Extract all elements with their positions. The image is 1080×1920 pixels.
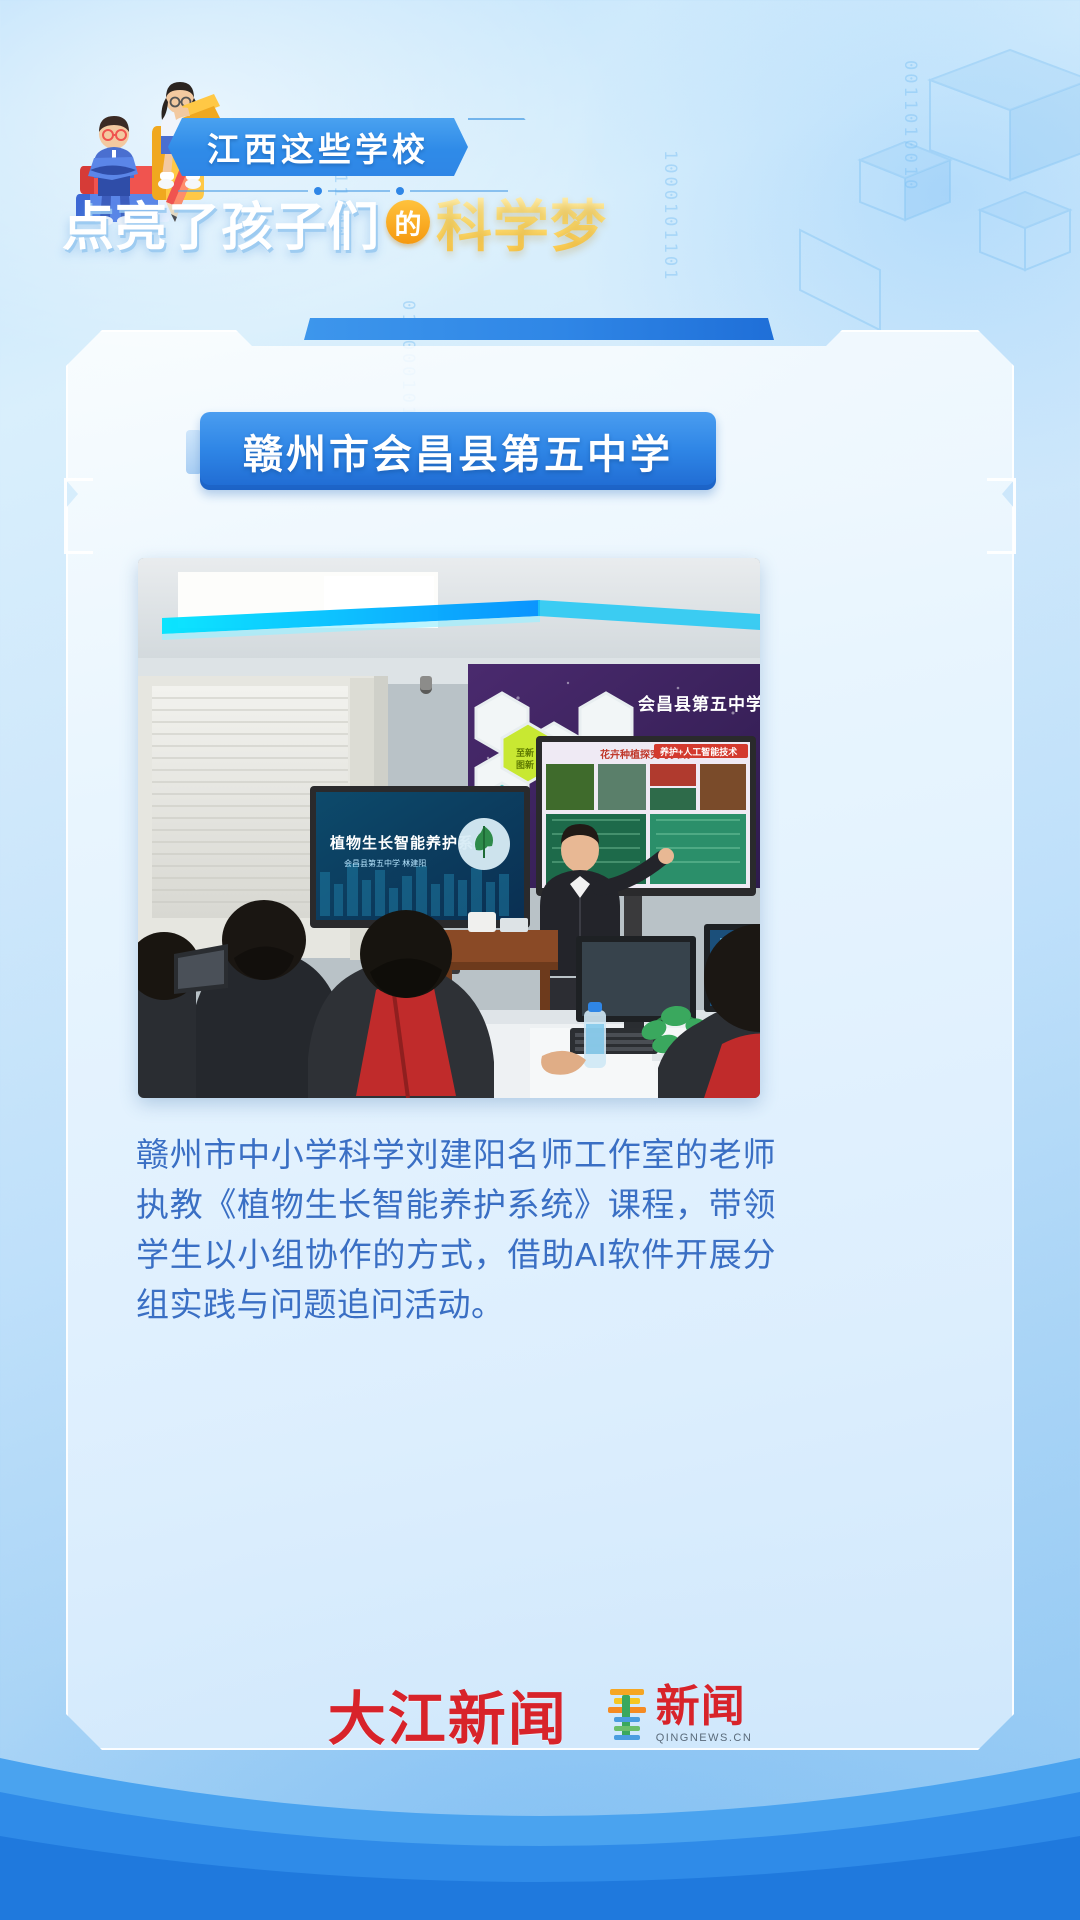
qing-character-mark-icon — [606, 1685, 648, 1743]
school-name-banner: 赣州市会昌县第五中学 — [186, 412, 716, 490]
svg-text:图新: 图新 — [516, 759, 534, 770]
ribbon-title: 江西这些学校 — [168, 118, 468, 176]
header-subtitle: 点亮了孩子们 的 科学梦 — [62, 186, 702, 258]
qingnews-sub-text: QINGNEWS.CN — [656, 1732, 753, 1744]
school-name-text: 赣州市会昌县第五中学 — [200, 412, 716, 490]
classroom-photo: 会昌县第五中学 至新 图新 — [138, 558, 760, 1098]
subtitle-de-badge: 的 — [386, 200, 430, 244]
photo-caption: 赣州市中小学科学刘建阳名师工作室的老师执教《植物生长智能养护系统》课程，带领学生… — [136, 1130, 776, 1330]
card-notch-right — [987, 478, 1016, 554]
dajiang-news-logo: 大江新闻 — [328, 1672, 568, 1756]
qingnews-logo: 新闻 QINGNEWS.CN — [606, 1684, 753, 1744]
classroom-photo-illustration: 会昌县第五中学 至新 图新 — [138, 558, 760, 1098]
ribbon-outline-tail — [468, 118, 550, 180]
qingnews-text-block: 新闻 QINGNEWS.CN — [656, 1684, 753, 1744]
card-notch-left — [64, 478, 93, 554]
svg-text:养护+人工智能技术: 养护+人工智能技术 — [659, 746, 737, 757]
card-top-tab — [304, 318, 774, 340]
content-card: 赣州市会昌县第五中学 — [66, 330, 1014, 1750]
subtitle-part1: 点亮了孩子们 — [62, 185, 380, 260]
svg-text:会昌县第五中学: 会昌县第五中学 — [638, 694, 760, 714]
subtitle-part2: 科学梦 — [436, 182, 607, 263]
svg-text:会昌县第五中学 林建阳: 会昌县第五中学 林建阳 — [344, 858, 426, 868]
qingnews-main-text: 新闻 — [656, 1684, 746, 1730]
svg-text:至新: 至新 — [516, 747, 534, 758]
header-ribbon: 江西这些学校 — [168, 118, 468, 176]
footer-logos: 大江新闻 新闻 QINGNEWS.CN — [0, 1666, 1080, 1762]
poster-header: 江西这些学校 点亮了孩子们 的 科学梦 — [0, 0, 1080, 300]
